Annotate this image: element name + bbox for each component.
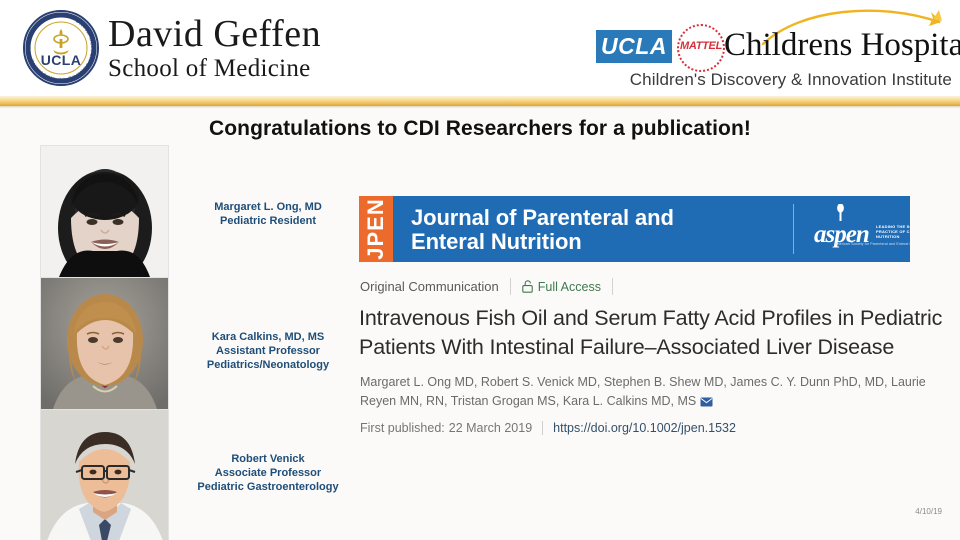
journal-title-line1: Journal of Parenteral and [411, 206, 781, 230]
mattel-seal-icon: MATTEL [677, 24, 725, 72]
first-published-date: 22 March 2019 [449, 421, 532, 435]
researcher-title: Pediatric Resident [172, 214, 364, 228]
article-type: Original Communication [360, 279, 499, 294]
header-band: DAVID GEFFEN SCHOOL OF MEDICINE UCLA Dav… [0, 0, 960, 97]
researcher-name: Kara Calkins, MD, MS [172, 330, 364, 344]
researcher-title: Assistant Professor [172, 344, 364, 358]
journal-title-line2: Enteral Nutrition [411, 230, 781, 254]
school-name-line2: School of Medicine [108, 54, 438, 83]
article-meta-row: Original Communication Full Access [360, 278, 613, 295]
envelope-icon[interactable] [700, 397, 713, 407]
pubinfo-separator [542, 421, 543, 435]
aspen-society-logo: aspen LEADING THE SCIENCE AND PRACTICE O… [814, 204, 906, 254]
researcher-caption-margaret-ong: Margaret L. Ong, MD Pediatric Resident [172, 200, 364, 228]
hospital-wordmark: Childrens Hospital [724, 24, 960, 66]
article-title-line2: Patients With Intestinal Failure–Associa… [359, 333, 959, 362]
slide-canvas: DAVID GEFFEN SCHOOL OF MEDICINE UCLA Dav… [0, 0, 960, 540]
ucla-box-label: UCLA [596, 30, 672, 63]
jpen-abbrev-block: JPEN [359, 196, 393, 262]
article-title-line1: Intravenous Fish Oil and Serum Fatty Aci… [359, 304, 959, 333]
researcher-name: Robert Venick [172, 452, 364, 466]
researcher-title: Associate Professor [172, 466, 364, 480]
researcher-name: Margaret L. Ong, MD [172, 200, 364, 214]
slide-datestamp: 4/10/19 [915, 507, 942, 516]
researcher-caption-robert-venick: Robert Venick Associate Professor Pediat… [172, 452, 364, 494]
researcher-department: Pediatric Gastroenterology [172, 480, 364, 494]
avatar-kara-calkins [40, 277, 169, 410]
aspen-subtitle: American Society for Parenteral and Ente… [834, 242, 910, 247]
page-title: Congratulations to CDI Researchers for a… [0, 117, 960, 141]
institute-name: Children's Discovery & Innovation Instit… [596, 70, 952, 90]
svg-text:UCLA: UCLA [41, 52, 81, 68]
researcher-caption-kara-calkins: Kara Calkins, MD, MS Assistant Professor… [172, 330, 364, 372]
doi-link[interactable]: https://doi.org/10.1002/jpen.1532 [553, 421, 736, 435]
avatar-margaret-ong [40, 145, 169, 278]
access-badge: Full Access [522, 280, 601, 294]
access-label: Full Access [538, 280, 601, 294]
mattel-childrens-hospital-logo: UCLA MATTEL Childrens Hospital Children'… [596, 12, 952, 92]
mattel-label: MATTEL [679, 26, 723, 66]
meta-separator [510, 278, 511, 295]
avatar-robert-venick [40, 409, 169, 540]
journal-banner: JPEN Journal of Parenteral and Enteral N… [359, 196, 910, 262]
journal-title: Journal of Parenteral and Enteral Nutrit… [411, 206, 781, 254]
ucla-seal-icon: DAVID GEFFEN SCHOOL OF MEDICINE UCLA [22, 9, 100, 87]
gold-divider-bar [0, 96, 960, 106]
school-name-line1: David Geffen [108, 14, 438, 54]
author-list: Margaret L. Ong MD, Robert S. Venick MD,… [360, 375, 926, 408]
publication-info: First published: 22 March 2019 https://d… [360, 421, 736, 435]
first-published-label: First published: [360, 421, 445, 435]
meta-separator-end [612, 278, 613, 295]
article-title[interactable]: Intravenous Fish Oil and Serum Fatty Aci… [359, 304, 959, 362]
banner-divider [793, 204, 794, 254]
dgsom-wordmark: David Geffen School of Medicine [108, 14, 438, 83]
open-lock-icon [522, 280, 533, 293]
jpen-abbrev-label: JPEN [363, 198, 389, 259]
ucla-blue-box: UCLA [596, 30, 672, 63]
aspen-tagline: LEADING THE SCIENCE AND PRACTICE OF CLIN… [876, 224, 910, 239]
researcher-department: Pediatrics/Neonatology [172, 358, 364, 372]
article-authors: Margaret L. Ong MD, Robert S. Venick MD,… [360, 373, 945, 411]
